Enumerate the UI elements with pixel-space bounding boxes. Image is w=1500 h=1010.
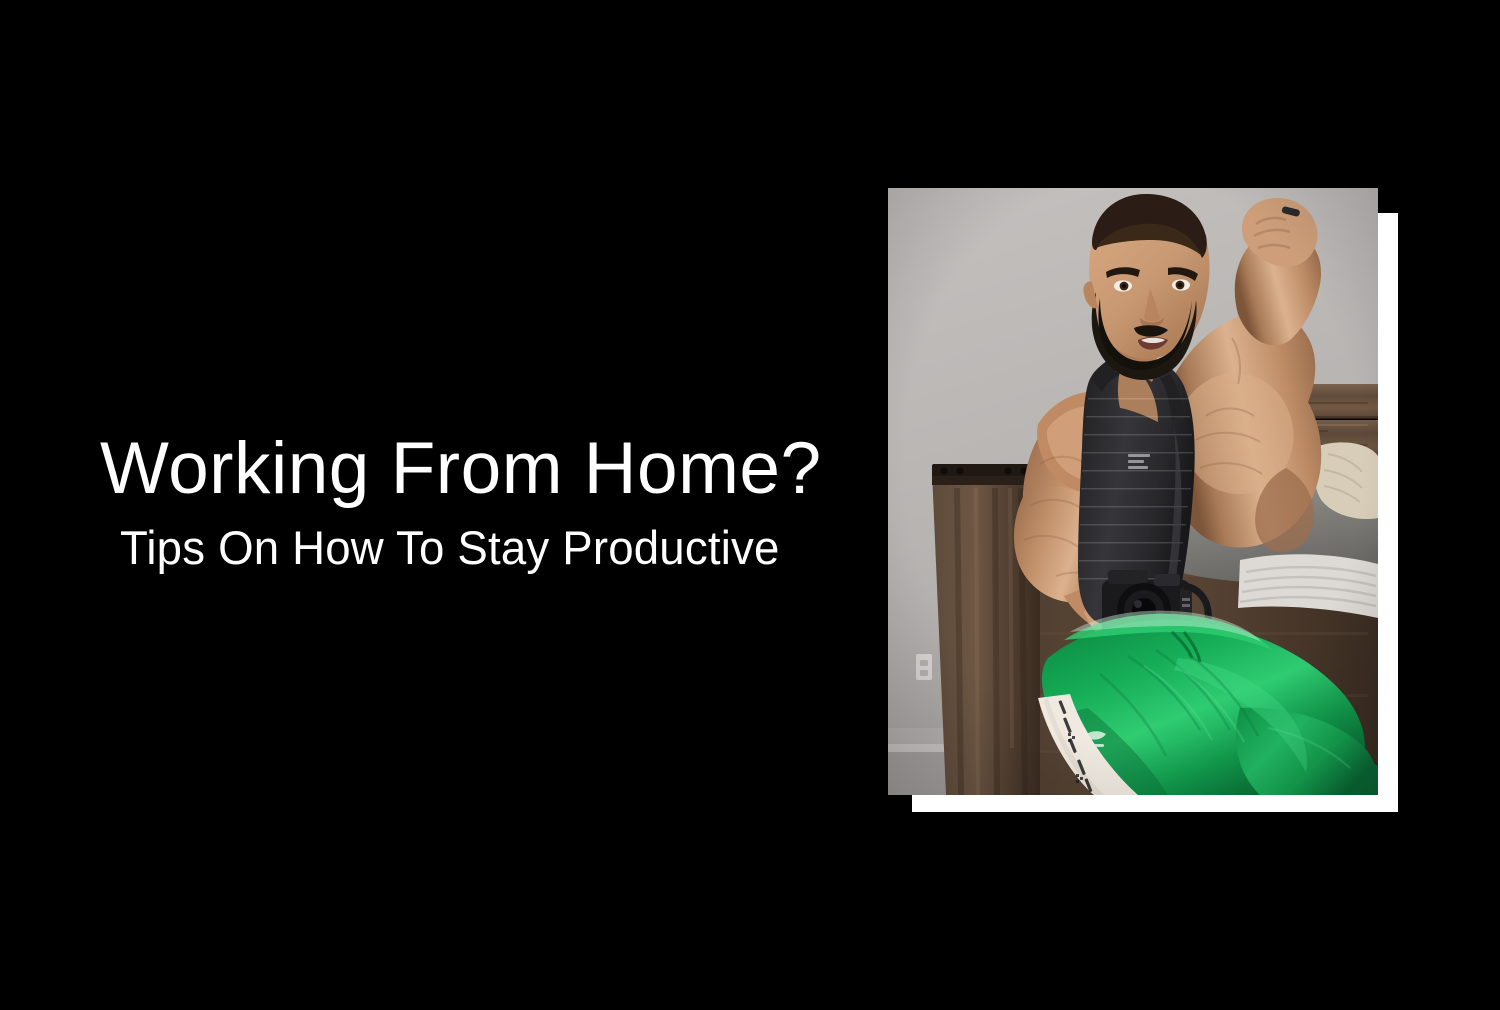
photo-area [888,188,1400,814]
poster-canvas: Working From Home? Tips On How To Stay P… [0,0,1500,1010]
page-title: Working From Home? [100,430,822,508]
page-subtitle: Tips On How To Stay Productive [120,522,780,574]
text-block: Working From Home? Tips On How To Stay P… [0,430,880,620]
hero-photo [888,188,1378,795]
hero-photo-illustration [888,188,1378,795]
